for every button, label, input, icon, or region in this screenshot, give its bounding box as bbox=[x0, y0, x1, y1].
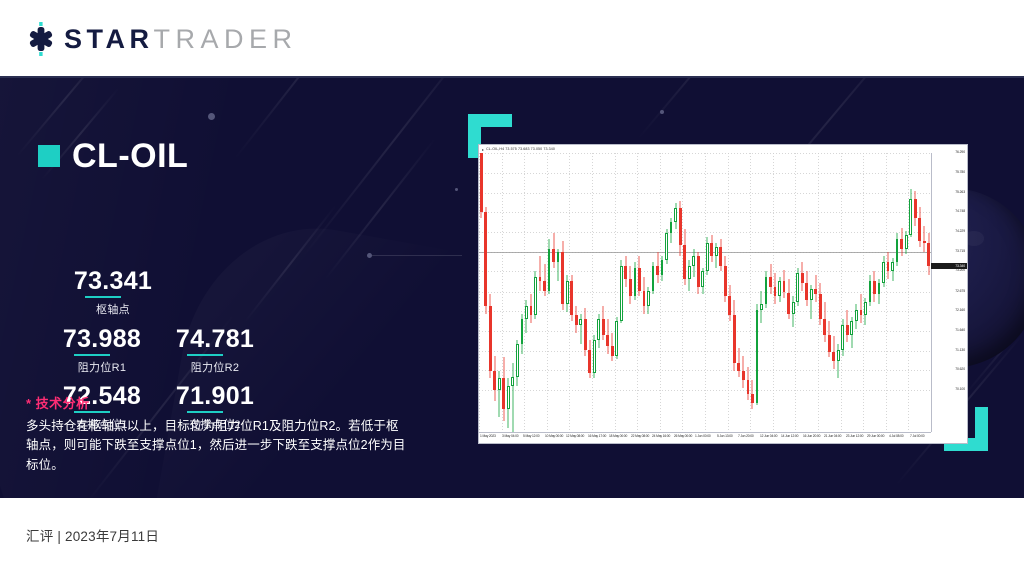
candle-body bbox=[787, 293, 790, 314]
candle-body bbox=[846, 325, 849, 335]
candle-body bbox=[570, 281, 573, 315]
candle-body bbox=[575, 315, 578, 325]
candle-body bbox=[539, 277, 542, 281]
price-tick-label: 72.675 bbox=[955, 290, 965, 293]
candle-body bbox=[566, 281, 569, 304]
time-tick-label: 3 May 04:00 bbox=[502, 435, 519, 438]
candle-body bbox=[557, 252, 560, 262]
candle-body bbox=[841, 325, 844, 350]
candle-body bbox=[674, 208, 677, 221]
candle-body bbox=[670, 222, 673, 233]
candle-body bbox=[737, 363, 740, 371]
candle-body bbox=[606, 335, 609, 346]
candle-body bbox=[805, 283, 808, 300]
candle-body bbox=[860, 310, 863, 316]
candle-body bbox=[733, 315, 736, 363]
price-tick-label: 71.130 bbox=[955, 349, 965, 352]
candle-body bbox=[837, 350, 840, 361]
stat-resistance-2-value: 74.781 bbox=[176, 326, 254, 356]
time-tick-label: 26 May 00:00 bbox=[674, 435, 692, 438]
candle-body bbox=[665, 233, 668, 260]
price-tick-label: 75.780 bbox=[955, 171, 965, 174]
candle-body bbox=[534, 277, 537, 315]
candle-body bbox=[923, 241, 926, 243]
candle-wick bbox=[924, 226, 925, 253]
candle-body bbox=[792, 302, 795, 313]
candle-body bbox=[643, 291, 646, 306]
price-tick-label: 76.290 bbox=[955, 151, 965, 154]
price-tick-label: 71.640 bbox=[955, 329, 965, 332]
time-tick-label: 21 Jun 04:00 bbox=[824, 435, 841, 438]
time-tick-label: 5 May 12:00 bbox=[523, 435, 540, 438]
candle-body bbox=[597, 319, 600, 340]
brand-wordmark: STARTRADER bbox=[64, 26, 298, 53]
candle-body bbox=[774, 287, 777, 297]
time-tick-label: 1 May 2023 bbox=[480, 435, 496, 438]
candle-body bbox=[891, 262, 894, 272]
candle-body bbox=[679, 208, 682, 244]
candle-body bbox=[819, 294, 822, 319]
candle-body bbox=[751, 394, 754, 404]
price-tick-label: 75.263 bbox=[955, 191, 965, 194]
candle-body bbox=[697, 256, 700, 287]
price-tick-label: 74.229 bbox=[955, 230, 965, 233]
candle-body bbox=[548, 249, 551, 291]
candle-body bbox=[801, 273, 804, 283]
candle-body bbox=[914, 199, 917, 218]
page-header: STARTRADER bbox=[0, 0, 1024, 78]
price-tick-label: 73.715 bbox=[955, 250, 965, 253]
time-tick-label: 29 Jun 00:00 bbox=[867, 435, 884, 438]
time-tick-label: 12 May 08:00 bbox=[566, 435, 584, 438]
candle-body bbox=[593, 340, 596, 372]
analysis-body: 多头持仓在枢轴点以上，目标位为阻力位R1及阻力位R2。若低于枢轴点，则可能下跌至… bbox=[26, 417, 406, 475]
candle-body bbox=[489, 306, 492, 371]
candle-body bbox=[661, 260, 664, 275]
candle-body bbox=[656, 266, 659, 276]
time-tick-label: 12 Jun 04:00 bbox=[760, 435, 777, 438]
candle-body bbox=[747, 380, 750, 393]
candle-body bbox=[511, 377, 514, 387]
candle-body bbox=[855, 310, 858, 321]
candle-body bbox=[525, 306, 528, 319]
candle-body bbox=[918, 218, 921, 241]
candle-wick bbox=[540, 256, 541, 290]
candle-body bbox=[832, 352, 835, 362]
chart-plot-area[interactable] bbox=[479, 153, 931, 432]
candle-body bbox=[869, 281, 872, 302]
candle-body bbox=[810, 289, 813, 300]
candle-body bbox=[484, 212, 487, 306]
candle-body bbox=[502, 378, 505, 409]
candle-body bbox=[778, 281, 781, 296]
candle-body bbox=[629, 279, 632, 296]
candle-body bbox=[624, 266, 627, 279]
candle-body bbox=[927, 243, 930, 266]
candle-body bbox=[909, 199, 912, 235]
instrument-title: CL-OIL bbox=[38, 139, 188, 173]
candle-body bbox=[588, 350, 591, 373]
candle-body bbox=[905, 235, 908, 248]
candle-body bbox=[887, 262, 890, 272]
candle-body bbox=[715, 247, 718, 257]
candle-body bbox=[878, 283, 881, 294]
stat-resistance-1-value: 73.988 bbox=[63, 326, 141, 356]
candle-body bbox=[521, 319, 524, 344]
candle-wick bbox=[580, 314, 581, 345]
price-tick-label: 70.100 bbox=[955, 388, 965, 391]
candle-body bbox=[647, 291, 650, 306]
footer-caption: 汇评 | 2023年7月11日 bbox=[26, 525, 159, 545]
brand-logo[interactable]: STARTRADER bbox=[24, 22, 298, 56]
time-tick-label: 23 Jun 12:00 bbox=[846, 435, 863, 438]
candle-body bbox=[724, 266, 727, 297]
candle-body bbox=[620, 266, 623, 321]
candle-wick bbox=[512, 363, 513, 432]
candle-body bbox=[896, 239, 899, 262]
candle-body bbox=[584, 319, 587, 350]
time-tick-label: 18 May 00:00 bbox=[609, 435, 627, 438]
chart-collapse-icon: ▸ bbox=[482, 147, 484, 152]
candle-body bbox=[516, 344, 519, 376]
candle-body bbox=[900, 239, 903, 249]
candle-body bbox=[543, 281, 546, 291]
candle-body bbox=[823, 319, 826, 334]
candle-body bbox=[706, 243, 709, 272]
price-tick-label: 72.160 bbox=[955, 309, 965, 312]
stat-pivot: 73.341 枢轴点 bbox=[38, 268, 188, 317]
candle-body bbox=[498, 378, 501, 389]
brand-name-bold: STAR bbox=[64, 26, 154, 53]
candle-body bbox=[728, 296, 731, 315]
candle-body bbox=[882, 262, 885, 283]
candle-body bbox=[615, 321, 618, 355]
stat-pivot-value: 73.341 bbox=[74, 268, 152, 298]
candle-body bbox=[765, 277, 768, 304]
candle-body bbox=[480, 153, 483, 212]
stat-pivot-label: 枢轴点 bbox=[38, 301, 188, 317]
time-tick-label: 10 May 00:00 bbox=[545, 435, 563, 438]
candle-body bbox=[864, 302, 867, 315]
time-tick-label: 16 May 17:00 bbox=[588, 435, 606, 438]
candle-body bbox=[692, 256, 695, 266]
candle-body bbox=[638, 268, 641, 291]
hero-panel: CL-OIL 73.341 枢轴点 73.988 阻力位R1 74.781 阻力… bbox=[0, 78, 1024, 498]
time-tick-label: 5 Jun 13:00 bbox=[717, 435, 733, 438]
asterisk-star-icon bbox=[24, 22, 58, 56]
candle-body bbox=[783, 281, 786, 292]
time-axis[interactable]: 1 May 20233 May 04:005 May 12:0010 May 0… bbox=[479, 432, 931, 443]
time-tick-label: 24 May 16:00 bbox=[652, 435, 670, 438]
candle-body bbox=[742, 371, 745, 381]
candle-body bbox=[850, 321, 853, 334]
candle-body bbox=[493, 371, 496, 390]
candle-body bbox=[873, 281, 876, 294]
candle-body bbox=[701, 271, 704, 286]
candle-body bbox=[719, 247, 722, 266]
time-tick-label: 16 Jun 20:00 bbox=[803, 435, 820, 438]
candle-body bbox=[683, 245, 686, 279]
page-footer: 汇评 | 2023年7月11日 bbox=[0, 498, 1024, 576]
candle-body bbox=[561, 252, 564, 304]
analysis-heading: * 技术分析 bbox=[26, 393, 406, 412]
candle-body bbox=[688, 266, 691, 279]
candle-body bbox=[530, 306, 533, 316]
candle-body bbox=[552, 249, 555, 262]
candle-body bbox=[796, 273, 799, 302]
candle-body bbox=[760, 304, 763, 310]
time-tick-label: 7 Jul 00:00 bbox=[910, 435, 924, 438]
stat-resistance-2: 74.781 阻力位R2 bbox=[140, 326, 290, 375]
time-tick-label: 4 Jul 08:00 bbox=[889, 435, 903, 438]
instrument-marker-icon bbox=[38, 145, 60, 167]
technical-analysis: * 技术分析 多头持仓在枢轴点以上，目标位为阻力位R1及阻力位R2。若低于枢轴点… bbox=[26, 393, 406, 475]
price-axis[interactable]: 76.29075.78075.26374.74874.22973.71573.2… bbox=[931, 153, 967, 432]
candle-body bbox=[611, 346, 614, 356]
candle-body bbox=[507, 386, 510, 409]
stat-resistance-2-label: 阻力位R2 bbox=[140, 359, 290, 375]
candle-body bbox=[828, 335, 831, 352]
instrument-symbol: CL-OIL bbox=[72, 139, 188, 173]
time-tick-label: 22 May 08:00 bbox=[631, 435, 649, 438]
candle-body bbox=[710, 243, 713, 256]
candle-body bbox=[634, 268, 637, 297]
time-tick-label: 14 Jun 12:00 bbox=[781, 435, 798, 438]
price-chart[interactable]: ▸ CL-OIL,H4 73.575 73.683 73.050 73.340 … bbox=[478, 144, 968, 444]
candle-body bbox=[602, 319, 605, 334]
chart-header-label: ▸ CL-OIL,H4 73.575 73.683 73.050 73.340 bbox=[479, 145, 967, 153]
price-tick-label: 73.200 bbox=[955, 269, 965, 272]
price-tick-label: 74.748 bbox=[955, 210, 965, 213]
candle-body bbox=[652, 266, 655, 291]
current-price-label: 73.340 bbox=[931, 263, 967, 269]
chart-header-text: CL-OIL,H4 73.575 73.683 73.050 73.340 bbox=[486, 147, 555, 151]
candle-body bbox=[579, 319, 582, 325]
candle-body bbox=[769, 277, 772, 287]
candle-body bbox=[756, 310, 759, 404]
price-tick-label: 70.620 bbox=[955, 368, 965, 371]
brand-name-light: TRADER bbox=[154, 26, 298, 53]
time-tick-label: 1 Jun 00:00 bbox=[695, 435, 711, 438]
candle-body bbox=[814, 289, 817, 295]
time-tick-label: 7 Jun 20:00 bbox=[738, 435, 754, 438]
